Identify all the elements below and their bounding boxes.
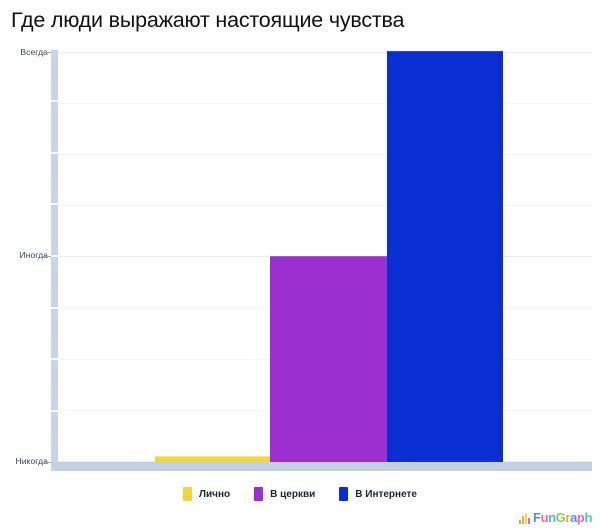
watermark-letter-7: h — [584, 510, 592, 525]
bar-v-internete[interactable] — [387, 51, 503, 462]
page-title: Где люди выражают настоящие чувства — [11, 8, 591, 33]
y-axis-tick-6 — [51, 358, 58, 360]
y-axis-tick-5 — [51, 307, 58, 309]
legend-swatch-icon-v-internete — [339, 487, 348, 501]
plot-area — [58, 52, 592, 462]
y-axis-tick-3 — [51, 203, 58, 205]
chart-legend: Лично В церкви В Интернете — [0, 487, 600, 501]
gridline-minor-3 — [58, 205, 592, 206]
gridline-vsegda — [58, 52, 592, 53]
y-axis-tick-1 — [51, 100, 58, 102]
legend-label-lichno: Лично — [199, 489, 230, 500]
legend-item-v-cerkvi[interactable]: В церкви — [254, 487, 315, 501]
legend-swatch-icon-lichno — [183, 487, 192, 501]
y-tick-label-inogda: Иногда — [2, 250, 48, 260]
y-axis-tick-7 — [51, 410, 58, 412]
legend-item-v-internete[interactable]: В Интернете — [339, 487, 417, 501]
bar-v-cerkvi[interactable] — [270, 256, 387, 462]
watermark: FunGraph — [519, 511, 592, 524]
chart-container: Где люди выражают настоящие чувства Всег… — [0, 0, 600, 530]
watermark-letter-0: F — [533, 510, 541, 525]
y-tick-dash-vsegda — [42, 52, 51, 53]
y-axis-tick-2 — [51, 152, 58, 154]
watermark-text: FunGraph — [533, 511, 592, 524]
watermark-letter-3: G — [556, 510, 566, 525]
legend-label-v-cerkvi: В церкви — [270, 489, 315, 500]
gridline-minor-1 — [58, 103, 592, 104]
bar-chart-icon — [519, 512, 530, 524]
y-tick-label-nikogda: Никогда — [2, 456, 48, 466]
y-tick-dash-nikogda — [42, 462, 51, 463]
legend-item-lichno[interactable]: Лично — [183, 487, 230, 501]
watermark-letter-2: n — [548, 510, 556, 525]
y-axis-tick-4 — [51, 255, 58, 257]
legend-swatch-icon-v-cerkvi — [254, 487, 263, 501]
gridline-minor-2 — [58, 154, 592, 155]
watermark-letter-1: u — [541, 510, 549, 525]
y-tick-dash-inogda — [42, 256, 51, 257]
x-axis-baseline — [51, 462, 592, 471]
legend-label-v-internete: В Интернете — [355, 489, 417, 500]
watermark-letter-5: a — [570, 510, 577, 525]
y-axis — [51, 50, 58, 470]
